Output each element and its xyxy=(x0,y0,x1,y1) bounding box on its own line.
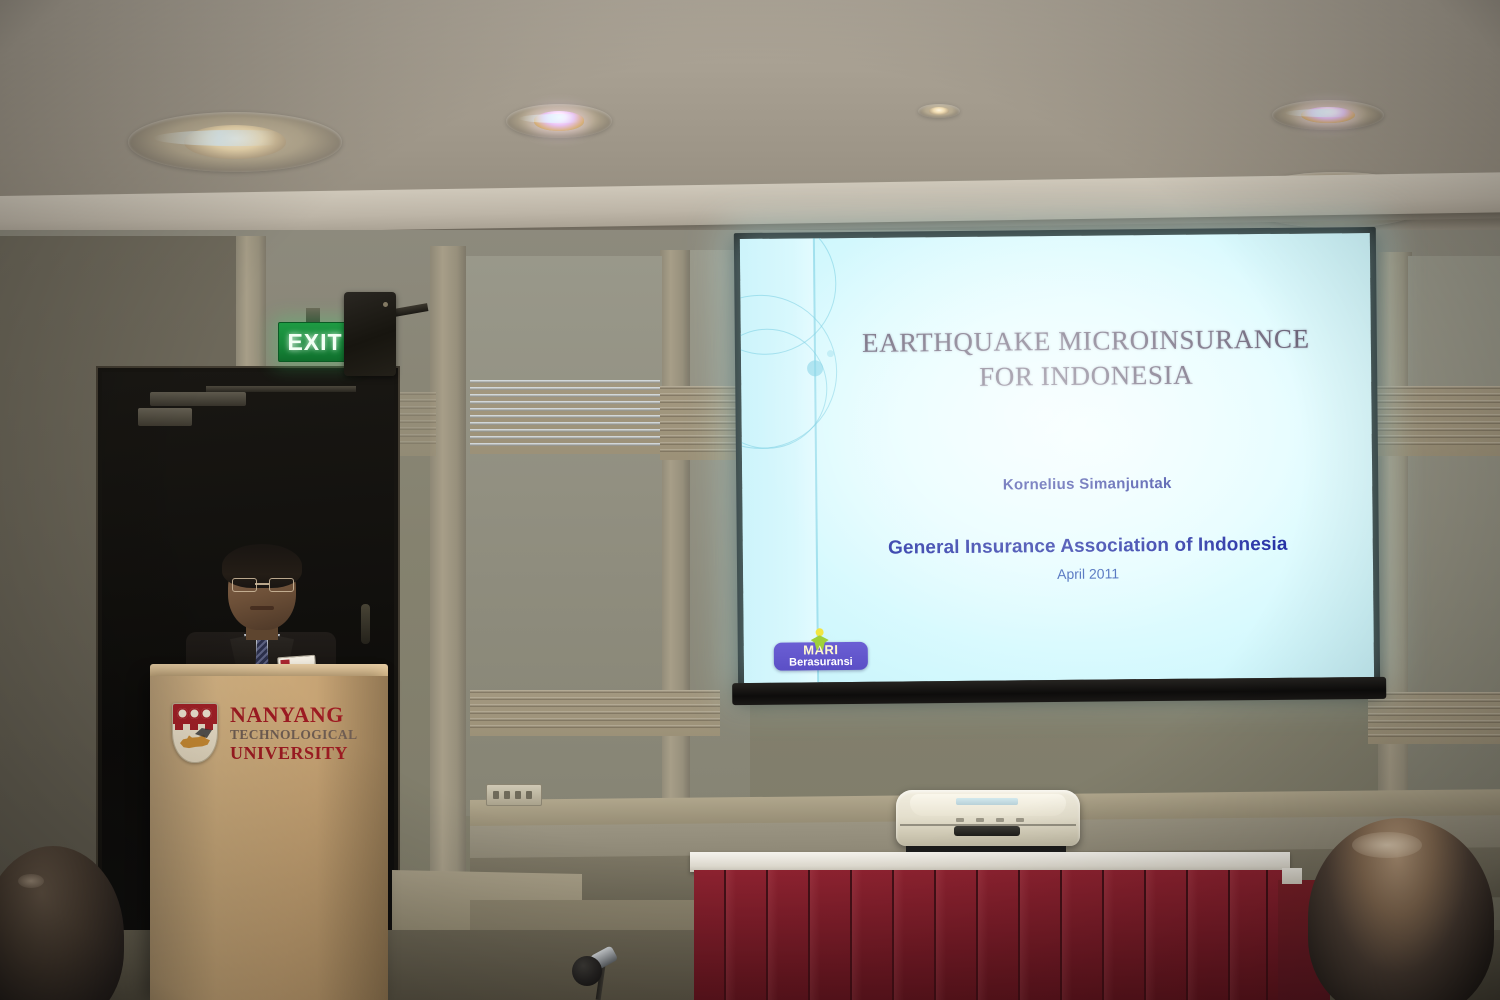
wall-slat-band xyxy=(1368,692,1500,744)
presenter-glasses-icon xyxy=(232,578,292,590)
door-kickplate xyxy=(138,408,192,426)
projector-button[interactable] xyxy=(1016,818,1024,822)
ceiling-downlight-icon xyxy=(1272,100,1384,130)
mari-berasuransi-logo: MARI Berasuransi xyxy=(774,642,868,671)
wall-slat-band xyxy=(470,690,720,736)
wall-pilaster xyxy=(430,246,466,936)
presenter-mouth xyxy=(250,606,274,610)
ntu-line-2: TECHNOLOGICAL xyxy=(230,726,357,743)
projector xyxy=(896,790,1080,846)
presentation-slide: EARTHQUAKE MICROINSURANCE FOR INDONESIA … xyxy=(740,233,1374,683)
wall-slat-band xyxy=(470,380,660,454)
slide-author: Kornelius Simanjuntak xyxy=(816,473,1358,495)
microphone-icon xyxy=(572,956,602,986)
door-handle[interactable] xyxy=(361,604,370,644)
slide-title-line-2: FOR INDONESIA xyxy=(815,356,1357,396)
projector-lens xyxy=(954,826,1020,836)
slide-title-line-1: EARTHQUAKE MICROINSURANCE xyxy=(815,321,1357,361)
door-closer-arm xyxy=(206,386,356,392)
projector-vent xyxy=(956,798,1018,805)
mari-logo-bottom-text: Berasuransi xyxy=(789,656,853,669)
av-table-top xyxy=(690,852,1290,872)
ceiling-downlight-icon xyxy=(128,112,342,172)
slide-projection-glow xyxy=(740,233,1374,683)
slide-organization: General Insurance Association of Indones… xyxy=(817,533,1359,560)
door-closer xyxy=(150,392,246,406)
wall-slat-band xyxy=(1368,386,1500,456)
projector-button[interactable] xyxy=(996,818,1004,822)
ntu-wordmark: NANYANG TECHNOLOGICAL UNIVERSITY xyxy=(230,704,357,763)
ntu-logo: NANYANG TECHNOLOGICAL UNIVERSITY xyxy=(172,692,372,774)
ceiling-downlight-icon xyxy=(918,104,960,118)
audience-paper-right xyxy=(1282,868,1302,884)
projector-button[interactable] xyxy=(976,818,984,822)
mari-figure-icon xyxy=(810,628,830,652)
exit-sign: EXIT xyxy=(278,322,352,362)
slide-date: April 2011 xyxy=(817,563,1359,584)
wall-socket-icon xyxy=(486,784,542,806)
ntu-crest-icon xyxy=(172,703,218,763)
wall-speaker-icon xyxy=(344,292,396,376)
av-table-skirt xyxy=(694,870,1286,1000)
presentation-room-photo: EXIT EARTHQUAKE MICROINSURANCE FOR INDON… xyxy=(0,0,1500,1000)
exit-sign-label: EXIT xyxy=(287,329,342,356)
projection-screen: EARTHQUAKE MICROINSURANCE FOR INDONESIA … xyxy=(740,233,1374,689)
projector-button[interactable] xyxy=(956,818,964,822)
ceiling-downlight-icon xyxy=(506,104,612,138)
ntu-line-3: UNIVERSITY xyxy=(230,743,357,763)
slide-title: EARTHQUAKE MICROINSURANCE FOR INDONESIA xyxy=(815,321,1358,395)
ntu-line-1: NANYANG xyxy=(230,704,357,726)
